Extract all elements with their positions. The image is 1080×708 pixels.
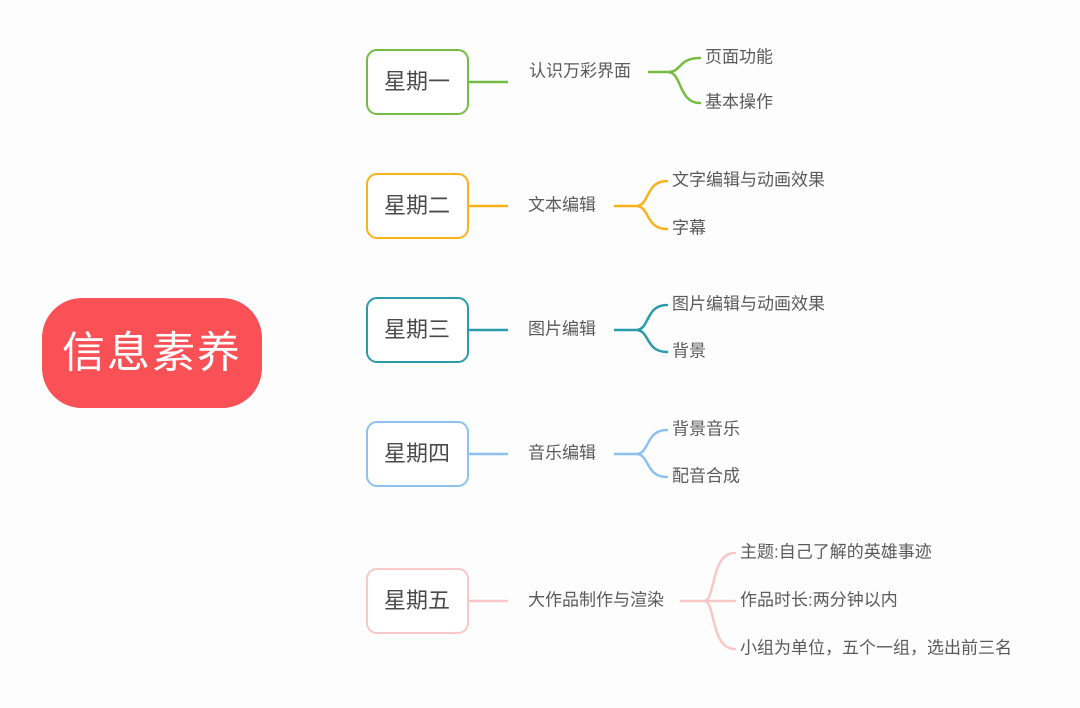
branch-label-thursday: 星期四 bbox=[384, 441, 450, 466]
leaf-label-monday-1: 基本操作 bbox=[705, 92, 773, 111]
leaf-label-tuesday-0: 文字编辑与动画效果 bbox=[672, 170, 825, 189]
bracket-tuesday bbox=[636, 181, 667, 229]
branch-monday: 星期一 认识万彩界面 页面功能 基本操作 bbox=[367, 47, 773, 114]
trunk-connector-tuesday bbox=[168, 210, 367, 308]
branch-thursday: 星期四 音乐编辑 背景音乐 配音合成 bbox=[367, 419, 740, 486]
leaf-label-thursday-1: 配音合成 bbox=[672, 466, 740, 485]
trunk-connector-monday bbox=[150, 86, 367, 306]
branch-tuesday: 星期二 文本编辑 文字编辑与动画效果 字幕 bbox=[367, 170, 825, 238]
bracket-monday bbox=[668, 58, 700, 103]
sub-label-friday: 大作品制作与渲染 bbox=[528, 590, 664, 609]
branch-label-tuesday: 星期二 bbox=[384, 193, 450, 218]
leaf-label-friday-2: 小组为单位，五个一组，选出前三名 bbox=[740, 638, 1012, 657]
central-node-label: 信息素养 bbox=[62, 329, 242, 377]
branch-label-friday: 星期五 bbox=[384, 588, 450, 613]
sub-label-tuesday: 文本编辑 bbox=[528, 195, 596, 214]
sub-label-thursday: 音乐编辑 bbox=[528, 443, 596, 462]
leaf-label-wednesday-0: 图片编辑与动画效果 bbox=[672, 294, 825, 313]
leaf-label-friday-1: 作品时长:两分钟以内 bbox=[740, 590, 898, 609]
branch-label-monday: 星期一 bbox=[384, 69, 450, 94]
sub-label-wednesday: 图片编辑 bbox=[528, 319, 596, 338]
trunk-connector-wednesday bbox=[259, 327, 367, 333]
bracket-thursday bbox=[636, 430, 667, 477]
trunk-connector-friday bbox=[132, 404, 367, 606]
mindmap-svg: 信息素养 星期一 认识万彩界面 页面功能 基本操作 星期二 文本编辑 文字编辑与… bbox=[0, 0, 1080, 708]
branch-wednesday: 星期三 图片编辑 图片编辑与动画效果 背景 bbox=[367, 294, 825, 362]
bracket-wednesday bbox=[636, 305, 667, 352]
leaf-label-tuesday-1: 字幕 bbox=[672, 218, 706, 237]
leaf-label-thursday-0: 背景音乐 bbox=[672, 419, 740, 438]
branch-label-wednesday: 星期三 bbox=[384, 317, 450, 342]
mindmap-canvas: 信息素养 星期一 认识万彩界面 页面功能 基本操作 星期二 文本编辑 文字编辑与… bbox=[0, 0, 1080, 708]
leaf-label-monday-0: 页面功能 bbox=[705, 47, 773, 66]
branch-friday: 星期五 大作品制作与渲染 主题:自己了解的英雄事迹 作品时长:两分钟以内 小组为… bbox=[367, 542, 1012, 657]
leaf-label-wednesday-1: 背景 bbox=[672, 341, 706, 360]
central-node[interactable]: 信息素养 bbox=[42, 298, 262, 408]
leaf-label-friday-0: 主题:自己了解的英雄事迹 bbox=[740, 542, 932, 561]
sub-label-monday: 认识万彩界面 bbox=[529, 61, 631, 80]
